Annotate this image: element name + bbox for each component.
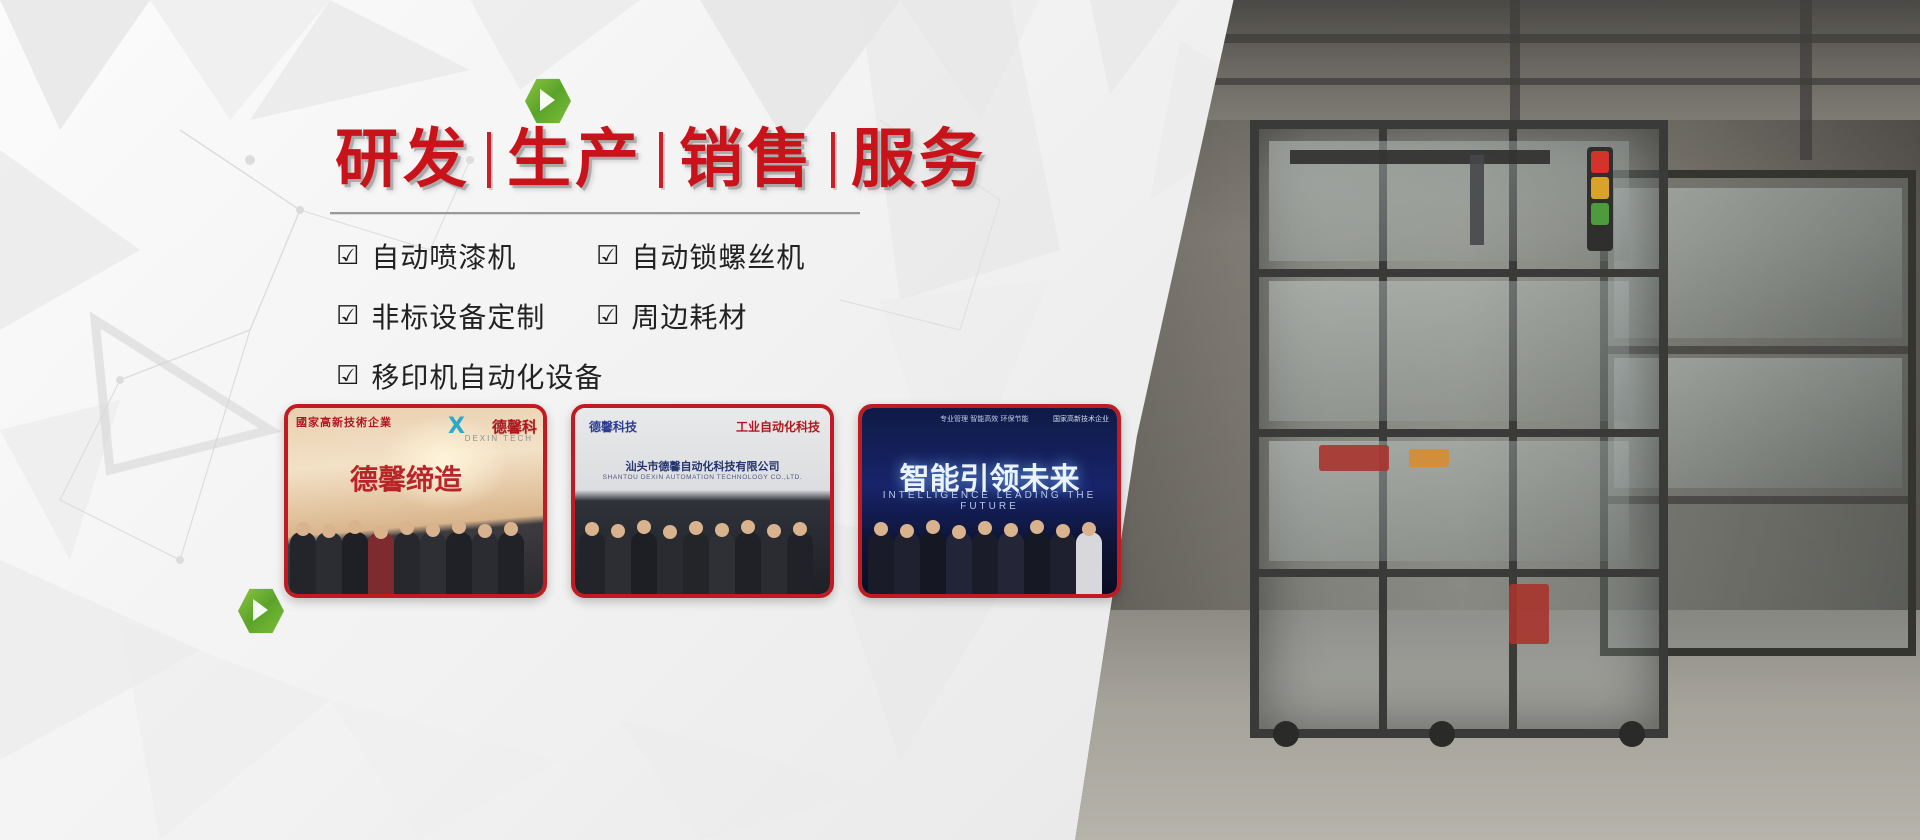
feature-item-5: ☑ 移印机自动化设备 [336, 356, 856, 396]
headline-separator [831, 132, 835, 188]
checkbox-checked-icon: ☑ [336, 243, 359, 269]
headline-word-3: 销售 [669, 128, 825, 192]
dexin-logo-icon: X [448, 414, 465, 439]
team-crowd [288, 520, 543, 594]
hex-play-icon-top [525, 78, 571, 124]
team-photo-booth[interactable]: 德馨科技 工业自动化科技 汕头市德馨自动化科技有限公司 SHANTOU DEXI… [571, 404, 834, 598]
feature-list: ☑ 自动喷漆机 ☑ 自动锁螺丝机 ☑ 非标设备定制 ☑ 周边耗材 ☑ 移印机自动… [336, 236, 876, 396]
feature-label: 自动喷漆机 [371, 236, 516, 276]
award-banner-text: 國家高新技術企業 [296, 414, 392, 430]
feature-item-1: ☑ 自动喷漆机 [336, 236, 596, 276]
headline-divider [330, 212, 860, 215]
team-photo-stage[interactable]: 专业管理 智能高效 环保节能 国家高新技术企业 智能引领未来 INTELLIGE… [858, 404, 1121, 598]
headline: 研发 生产 销售 服务 [325, 128, 997, 192]
feature-label: 非标设备定制 [371, 296, 545, 336]
headline-word-1: 研发 [325, 128, 481, 192]
checkbox-checked-icon: ☑ [596, 303, 619, 329]
headline-word-2: 生产 [497, 128, 653, 192]
thumbnail-gallery: 國家高新技術企業 X 德馨科 DEXIN TECH 德馨缔造 德馨科技 工业自动… [284, 404, 1121, 598]
checkbox-checked-icon: ☑ [336, 363, 359, 389]
team-crowd [575, 520, 830, 594]
feature-item-3: ☑ 非标设备定制 [336, 296, 596, 336]
stage-cert-right: 国家高新技术企业 [1053, 414, 1109, 425]
stage-slogan-en: INTELLIGENCE LEADING THE FUTURE [862, 490, 1117, 512]
team-crowd [862, 520, 1117, 594]
company-name-en: SHANTOU DEXIN AUTOMATION TECHNOLOGY CO.,… [575, 474, 830, 481]
checkbox-checked-icon: ☑ [596, 243, 619, 269]
headline-separator [659, 132, 663, 188]
hex-play-icon-bottom [238, 588, 284, 634]
headline-separator [487, 132, 491, 188]
stage-cert-left: 专业管理 智能高效 环保节能 [940, 414, 1028, 424]
brand-name-en: DEXIN TECH [465, 434, 533, 443]
team-photo-award[interactable]: 國家高新技術企業 X 德馨科 DEXIN TECH 德馨缔造 [284, 404, 547, 598]
checkbox-checked-icon: ☑ [336, 303, 359, 329]
promo-banner: 研发 生产 销售 服务 ☑ 自动喷漆机 ☑ 自动锁螺丝机 ☑ 非标设备定制 ☑ … [0, 0, 1920, 840]
feature-label: 自动锁螺丝机 [631, 236, 805, 276]
headline-word-4: 服务 [841, 128, 997, 192]
award-script-text: 德馨缔造 [350, 458, 462, 498]
feature-label: 移印机自动化设备 [371, 356, 603, 396]
booth-wall-brand-right: 工业自动化科技 [736, 418, 820, 435]
company-name-cn: 汕头市德馨自动化科技有限公司 [575, 458, 830, 474]
booth-wall-brand-left: 德馨科技 [589, 418, 637, 435]
feature-label: 周边耗材 [631, 296, 747, 336]
feature-item-4: ☑ 周边耗材 [596, 296, 856, 336]
feature-item-2: ☑ 自动锁螺丝机 [596, 236, 856, 276]
